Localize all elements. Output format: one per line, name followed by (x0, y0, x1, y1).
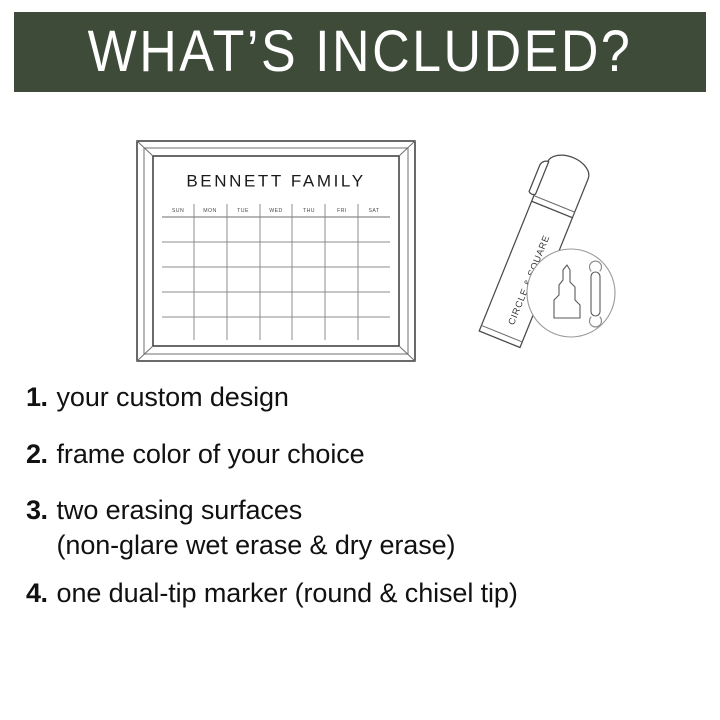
calendar-day-tue: TUE (237, 208, 249, 214)
list-item-number: 2. (26, 437, 48, 472)
round-tip-icon (591, 272, 600, 316)
list-item-line-2: (non-glare wet erase & dry erase) (57, 528, 456, 563)
illustration-band: BENNETT FAMILY SUN MON TUE WED THU FRI S… (0, 110, 720, 375)
marker-illustration: CIRCLE & SQUARE (470, 148, 620, 360)
calendar-day-mon: MON (203, 208, 216, 214)
list-item-text: one dual-tip marker (round & chisel tip) (57, 576, 518, 611)
page-title: WHAT’S INCLUDED? (88, 23, 633, 81)
list-item: 3. two erasing surfaces (non-glare wet e… (0, 493, 720, 562)
list-item-number: 1. (26, 380, 48, 415)
list-item-line-1: frame color of your choice (57, 439, 365, 469)
list-item-line-1: one dual-tip marker (round & chisel tip) (57, 578, 518, 608)
list-item-line-1: two erasing surfaces (57, 495, 303, 525)
list-item-text: your custom design (57, 380, 289, 415)
calendar-day-sun: SUN (172, 208, 184, 214)
list-item-text: two erasing surfaces (non-glare wet eras… (57, 493, 456, 562)
list-item-text: frame color of your choice (57, 437, 365, 472)
list-item-number: 3. (26, 493, 48, 528)
list-item: 4. one dual-tip marker (round & chisel t… (0, 576, 720, 611)
calendar-day-wed: WED (269, 208, 282, 214)
calendar-title: BENNETT FAMILY (186, 171, 365, 190)
list-item-line-1: your custom design (57, 382, 289, 412)
calendar-day-thu: THU (303, 208, 315, 214)
calendar-board-illustration: BENNETT FAMILY SUN MON TUE WED THU FRI S… (136, 140, 416, 362)
list-item: 1. your custom design (0, 380, 720, 415)
calendar-day-sat: SAT (368, 208, 379, 214)
header-banner: WHAT’S INCLUDED? (14, 12, 706, 92)
list-item: 2. frame color of your choice (0, 437, 720, 472)
list-item-number: 4. (26, 576, 48, 611)
feature-list: 1. your custom design 2. frame color of … (0, 380, 720, 611)
calendar-grid (162, 204, 390, 340)
calendar-day-fri: FRI (337, 208, 347, 214)
